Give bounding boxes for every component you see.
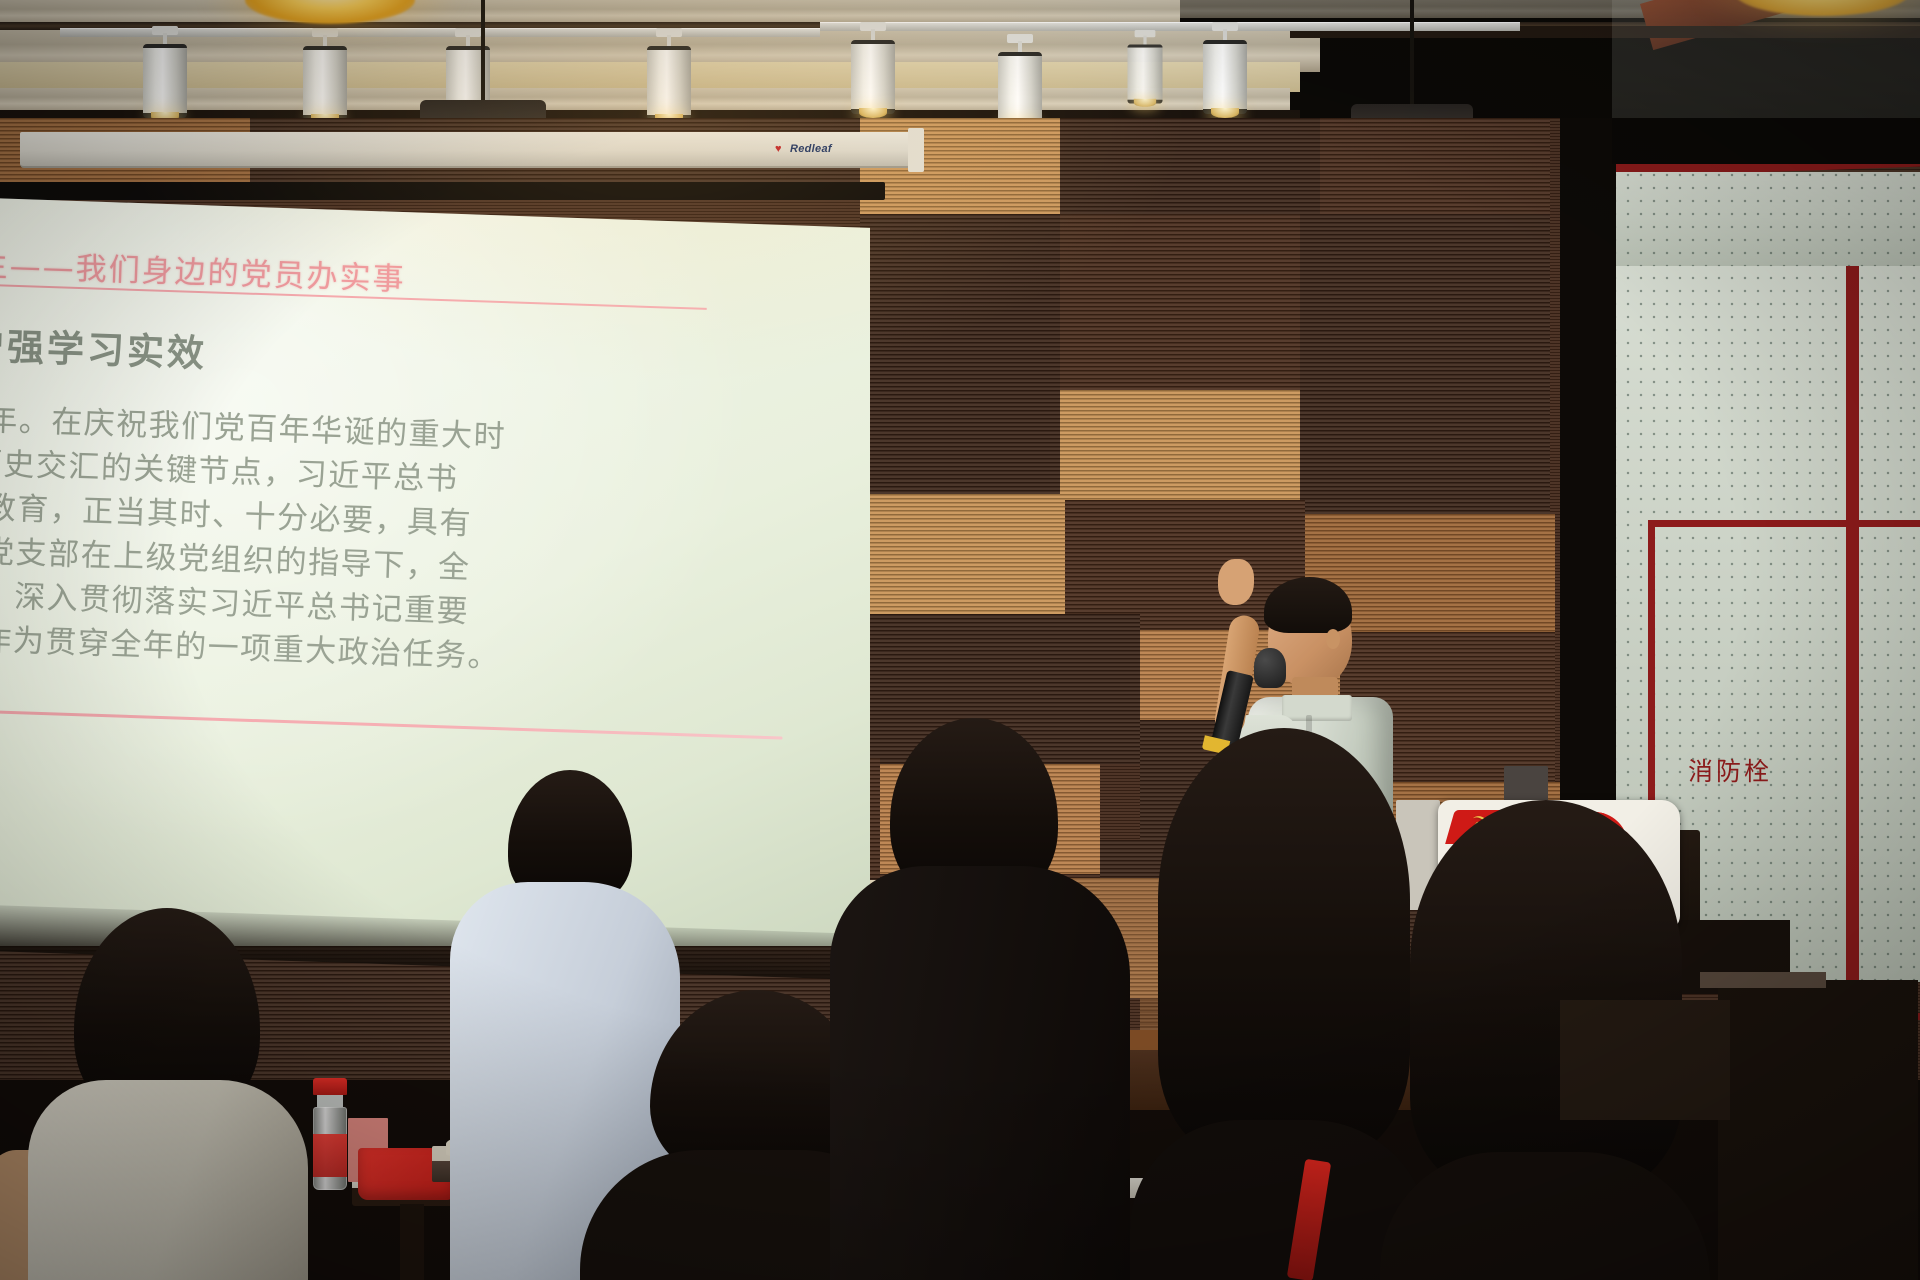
slide-content-area: 谋，服务师生——我们身边的党员办实事 增强学习实效 党成立100周年。在庆祝我们… (0, 198, 870, 946)
cabinet-top-edge (1700, 972, 1826, 988)
right-wall-dark-top (1612, 118, 1920, 164)
fire-hydrant-sign-label: 消防栓 (1688, 752, 1772, 788)
presentation-scene-photo: 消防栓 ♥ Redleaf 谋，服务师生——我们身边的党员办实事 增强学习实效 … (0, 0, 1920, 1280)
speaker-ear (1326, 629, 1340, 649)
right-wall-top (1612, 0, 1920, 132)
red-vertical-beam (1846, 262, 1859, 982)
water-bottle (313, 1078, 347, 1190)
podium-box (1504, 766, 1548, 804)
slide-body-text: 党成立100周年。在庆祝我们党百年华诞的重大时 年”奋斗目标历史交汇的关键节点，… (0, 392, 508, 680)
table-leg (400, 1204, 424, 1280)
pendant-lamp (235, 0, 425, 20)
slide-title-text: 增强学习实效 (0, 315, 208, 377)
acoustic-wall-panel-upper (1612, 172, 1920, 266)
redleaf-brand-label: Redleaf (790, 143, 832, 155)
microphone-head (1254, 648, 1286, 688)
audience-member-left (28, 908, 308, 1280)
audience-torso (830, 866, 1130, 1280)
audience-torso (1380, 1152, 1710, 1280)
ac-unit-end-cap (908, 128, 924, 172)
air-conditioner-unit: ♥ Redleaf (20, 132, 920, 168)
speaker-collar (1282, 695, 1352, 721)
audience-member-black-shirt (830, 718, 1130, 1280)
audience-hair (1158, 728, 1410, 1158)
speaker-hand (1218, 559, 1254, 605)
slide-header-text: 谋，服务师生——我们身边的党员办实事 (0, 234, 406, 299)
audience-torso (28, 1080, 308, 1280)
slide-footer-rule (0, 703, 783, 739)
redleaf-mark-icon: ♥ (775, 143, 782, 155)
side-cabinet (1718, 980, 1918, 1280)
audience-hair (1410, 800, 1682, 1192)
speaker-hair (1264, 577, 1352, 633)
side-table (1560, 1000, 1730, 1120)
